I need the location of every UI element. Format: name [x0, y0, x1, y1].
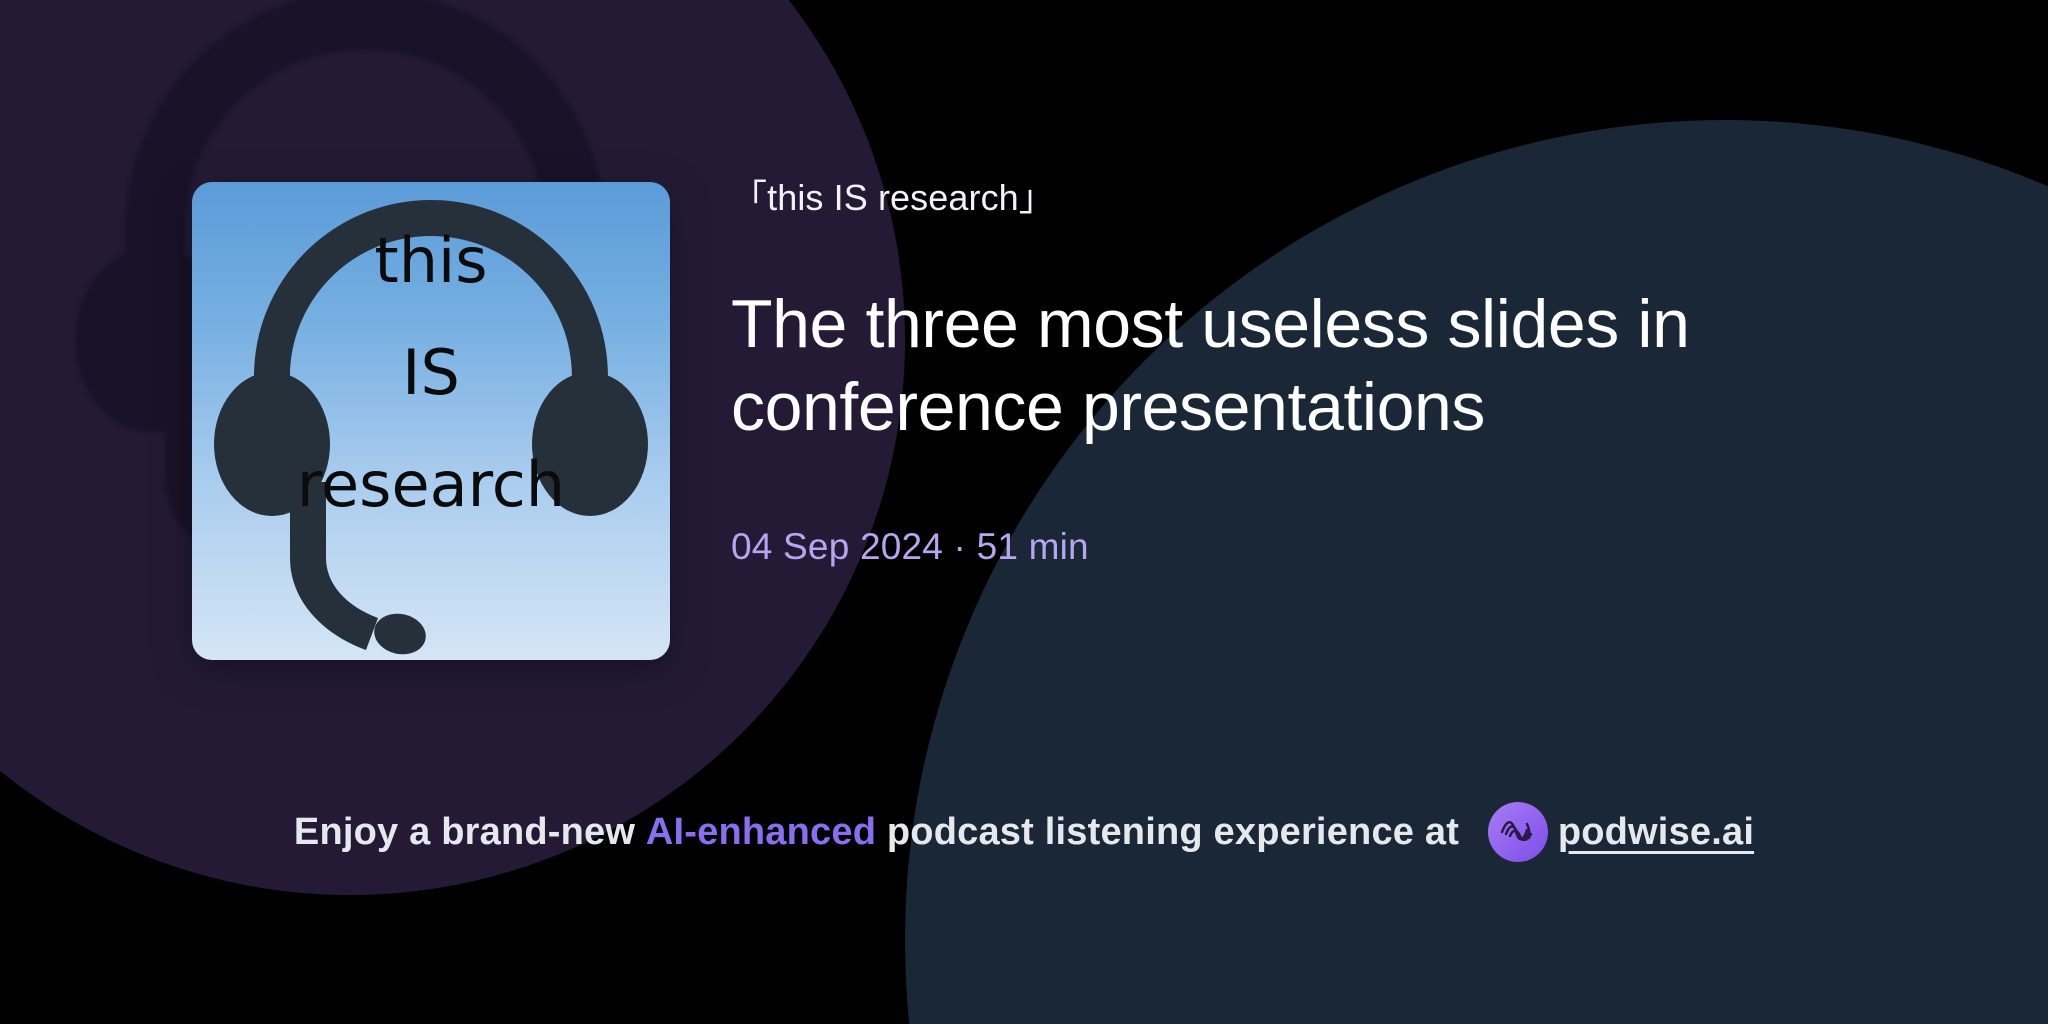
headset-with-mic-icon: this IS research [192, 182, 670, 660]
cover-line-3: research [297, 448, 565, 521]
podwise-brand-name[interactable]: podwise.ai [1558, 811, 1754, 854]
podcast-episode-share-card: this IS research 「this IS research」 The … [0, 0, 2048, 1024]
promo-text-after: podcast listening experience at [876, 811, 1470, 854]
episode-title-line-2: conference presentations [731, 366, 1831, 449]
episode-meta: 04 Sep 2024 · 51 min [731, 526, 1911, 568]
episode-duration: 51 min [977, 526, 1089, 567]
promo-highlight: AI-enhanced [646, 811, 876, 854]
episode-title-line-1: The three most useless slides in [731, 283, 1831, 366]
episode-date: 04 Sep 2024 [731, 526, 943, 567]
episode-title[interactable]: The three most useless slides in confere… [731, 283, 1831, 449]
cover-line-2: IS [402, 336, 460, 409]
episode-info: 「this IS research」 The three most useles… [731, 175, 1911, 568]
podwise-waveform-icon [1488, 802, 1548, 862]
meta-separator-dot: · [954, 526, 967, 567]
podcast-cover-art[interactable]: this IS research [192, 182, 670, 660]
podwise-brand-link[interactable]: podwise.ai [1488, 802, 1754, 862]
promo-banner: Enjoy a brand-new AI-enhanced podcast li… [0, 802, 2048, 862]
promo-text-before: Enjoy a brand-new [294, 811, 646, 854]
podcast-show-name[interactable]: 「this IS research」 [731, 175, 1911, 220]
cover-line-1: this [374, 224, 487, 297]
